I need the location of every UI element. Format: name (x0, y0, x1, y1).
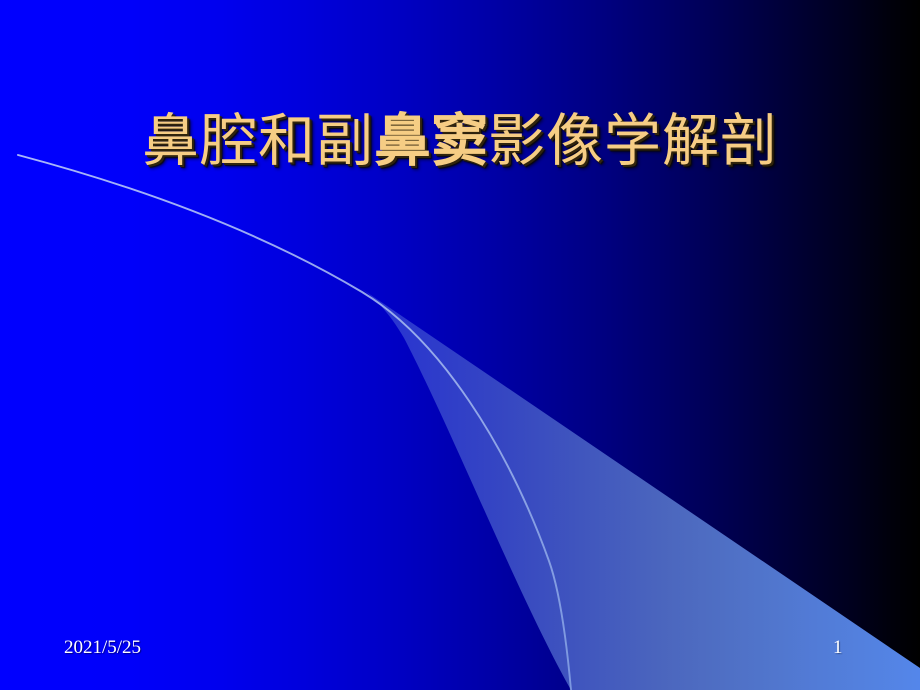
footer-page-number: 1 (833, 637, 843, 659)
footer-date: 2021/5/25 (64, 637, 141, 659)
swoosh-arc-line (18, 155, 571, 690)
page-title: 鼻腔和副鼻窦影像学解剖 (0, 112, 920, 171)
presentation-slide: 鼻腔和副鼻窦影像学解剖 2021/5/25 1 (0, 0, 920, 690)
title-segment-1: 鼻腔和副 (142, 110, 374, 173)
title-segment-emphasis: 鼻窦 (374, 109, 488, 173)
swoosh-wedge (362, 289, 920, 690)
title-segment-3: 影像学解剖 (488, 110, 778, 173)
swoosh-decoration (0, 0, 920, 690)
